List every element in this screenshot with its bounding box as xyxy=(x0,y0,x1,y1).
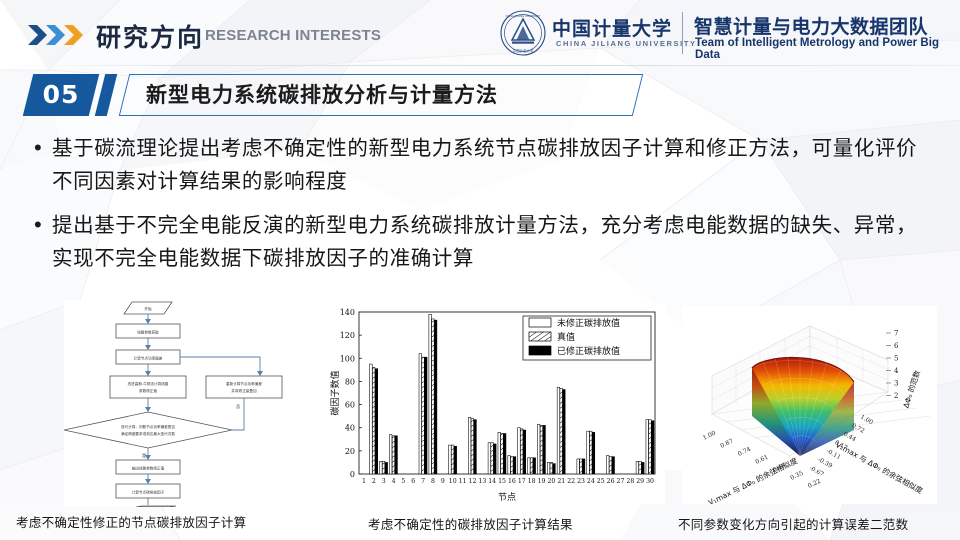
section-title-bar: 05 新型电力系统碳排放分析与计量方法 xyxy=(28,74,638,116)
bar xyxy=(528,458,531,474)
bar xyxy=(639,461,642,474)
bar xyxy=(587,431,590,474)
bar xyxy=(503,434,506,475)
bar xyxy=(501,434,504,475)
bar xyxy=(488,443,491,474)
bar xyxy=(642,462,645,474)
bar xyxy=(511,457,514,474)
bar xyxy=(580,459,583,474)
bullet-text: 提出基于不完全电能反演的新型电力系统碳排放计量方法，充分考虑电能数据的缺失、异常… xyxy=(52,209,932,275)
bar xyxy=(646,420,649,474)
header-divider xyxy=(0,65,960,66)
x-tick-label: 27 xyxy=(617,478,625,485)
bar xyxy=(451,445,454,474)
bar xyxy=(508,455,511,474)
bullet-item: • 基于碳流理论提出考虑不确定性的新型电力系统节点碳排放因子计算和修正方法，可量… xyxy=(30,132,940,198)
bar xyxy=(432,319,435,474)
bar xyxy=(533,458,536,474)
bar xyxy=(577,459,580,474)
bar xyxy=(395,436,398,474)
bullet-marker: • xyxy=(30,132,52,198)
bar xyxy=(520,429,523,474)
bullet-item: • 提出基于不完全电能反演的新型电力系统碳排放计量方法，充分考虑电能数据的缺失、… xyxy=(30,209,940,275)
header-title-en: RESEARCH INTERESTS xyxy=(205,27,381,44)
x-tick-label: 4 xyxy=(392,478,396,485)
svg-text:碳因子数值: 碳因子数值 xyxy=(329,370,341,415)
x-tick-label: 11 xyxy=(459,478,467,485)
z-tick-label: 3 xyxy=(894,380,898,388)
y-tick-label: 100 xyxy=(340,354,355,363)
svg-text:参数修正值: 参数修正值 xyxy=(139,388,157,393)
bar xyxy=(523,430,526,474)
bar xyxy=(636,461,639,474)
figure-caption: 不同参数变化方向引起的计算误差二范数 xyxy=(678,514,908,533)
x-tick-label: 29 xyxy=(636,478,644,485)
bar xyxy=(454,446,457,474)
x-tick-label: 12 xyxy=(469,478,477,485)
bullet-list: • 基于碳流理论提出考虑不确定性的新型电力系统节点碳排放因子计算和修正方法，可量… xyxy=(30,132,940,286)
y-tick-label: 120 xyxy=(340,331,355,340)
bar xyxy=(494,444,497,474)
z-tick-label: 5 xyxy=(894,355,898,363)
bar xyxy=(606,455,609,474)
z-tick-label: 4 xyxy=(894,367,899,375)
x-tick-label: 18 xyxy=(528,478,536,485)
bar xyxy=(468,417,471,474)
svg-text:并将修正量叠加: 并将修正量叠加 xyxy=(231,388,257,393)
legend-label: 未修正碳排放值 xyxy=(557,317,620,329)
figure-caption: 考虑不确定性的碳排放因子计算结果 xyxy=(368,514,573,533)
legend-label: 真值 xyxy=(557,331,575,343)
bar xyxy=(382,461,385,474)
x-tick-label: 5 xyxy=(401,478,405,485)
figure-caption: 考虑不确定性修正的节点碳排放因子计算 xyxy=(16,512,246,531)
bar xyxy=(543,425,546,474)
section-number-text: 05 xyxy=(28,74,94,116)
x-tick-label: 24 xyxy=(587,478,595,485)
figure-row: 开始 线路参数获取 计算节点功率偏差 改进高斯-牛顿法计算线路 参数修正值 重新… xyxy=(0,298,960,540)
legend-label: 已修正碳排放值 xyxy=(557,345,620,357)
y-tick-label: 80 xyxy=(345,377,355,386)
svg-text:满足精度要求或到达最大迭代次数: 满足精度要求或到达最大迭代次数 xyxy=(121,431,175,436)
bar xyxy=(389,435,392,474)
z-tick-label: 2 xyxy=(894,392,898,400)
svg-text:计算节点功率偏差: 计算节点功率偏差 xyxy=(134,356,163,361)
x-tick-label: 26 xyxy=(607,478,615,485)
svg-text:节点: 节点 xyxy=(498,492,516,503)
svg-text:重新计算节点功率偏差: 重新计算节点功率偏差 xyxy=(226,381,262,386)
x-tick-label: 23 xyxy=(577,478,585,485)
bar xyxy=(592,432,595,474)
legend-swatch xyxy=(529,332,551,341)
x-tick-label: 7 xyxy=(421,478,425,485)
bar xyxy=(609,457,612,474)
bullet-text: 基于碳流理论提出考虑不确定性的新型电力系统节点碳排放因子计算和修正方法，可量化评… xyxy=(52,132,932,198)
slide-header: 研究方向 RESEARCH INTERESTS xyxy=(0,0,960,66)
x-tick-label: 14 xyxy=(488,478,496,485)
svg-text:改进高斯-牛顿法计算线路: 改进高斯-牛顿法计算线路 xyxy=(128,381,169,386)
bar xyxy=(422,357,425,474)
x-tick-label: 1 xyxy=(362,478,366,485)
bar xyxy=(392,436,395,474)
bar xyxy=(563,390,566,474)
bar xyxy=(385,462,388,474)
legend-swatch xyxy=(529,346,551,355)
x-tick-label: 22 xyxy=(567,478,575,485)
bar xyxy=(375,369,378,474)
bar xyxy=(518,428,521,474)
bar xyxy=(434,320,437,474)
svg-text:迭代计算，判断节点功率偏差是否: 迭代计算，判断节点功率偏差是否 xyxy=(121,424,175,429)
bar xyxy=(537,424,540,474)
x-tick-label: 2 xyxy=(372,478,376,485)
svg-text:线路参数获取: 线路参数获取 xyxy=(137,330,159,335)
x-tick-label: 15 xyxy=(498,478,506,485)
figure-bar-chart: 020406080100120140 123456789101112131415… xyxy=(325,304,665,504)
bar xyxy=(582,459,585,474)
bar xyxy=(560,388,563,474)
bar xyxy=(550,462,553,474)
x-tick-label: 19 xyxy=(538,478,546,485)
z-tick-label: 6 xyxy=(894,342,899,350)
bar xyxy=(553,464,556,474)
bar xyxy=(612,457,615,474)
bar xyxy=(471,418,474,474)
svg-text:输出线路参数修正值: 输出线路参数修正值 xyxy=(132,466,165,471)
bar xyxy=(370,364,373,474)
bar xyxy=(425,357,428,474)
x-tick-label: 6 xyxy=(411,478,415,485)
y-tick-label: 0 xyxy=(350,470,355,479)
bullet-marker: • xyxy=(30,209,52,275)
y-tick-label: 20 xyxy=(345,447,355,456)
x-tick-label: 21 xyxy=(557,478,565,485)
bar xyxy=(498,432,501,474)
bar xyxy=(380,461,383,474)
bar xyxy=(513,457,516,474)
z-tick-label: 7 xyxy=(894,330,898,338)
legend-swatch xyxy=(529,318,551,327)
section-number-badge: 05 xyxy=(23,74,99,116)
bar xyxy=(540,425,543,474)
x-tick-label: 10 xyxy=(449,478,457,485)
x-tick-label: 25 xyxy=(597,478,605,485)
bar xyxy=(429,314,432,474)
figure-flowchart: 开始 线路参数获取 计算节点功率偏差 改进高斯-牛顿法计算线路 参数修正值 重新… xyxy=(64,300,312,507)
bar xyxy=(649,420,652,474)
x-tick-label: 3 xyxy=(382,478,386,485)
figure-surface-plot: 234567 1.000.870.740.610.480.350.22 1.00… xyxy=(682,306,937,504)
chevron-triple-icon xyxy=(28,24,90,46)
bar xyxy=(474,420,477,474)
bar xyxy=(449,445,452,474)
bar xyxy=(651,421,654,474)
x-tick-label: 17 xyxy=(518,478,526,485)
x-tick-label: 16 xyxy=(508,478,516,485)
bar xyxy=(530,458,533,474)
bar xyxy=(557,387,560,474)
y-tick-label: 40 xyxy=(345,424,355,433)
x-tick-label: 8 xyxy=(431,478,435,485)
svg-text:计算节点碳排放因子: 计算节点碳排放因子 xyxy=(132,490,165,495)
section-slash-accent xyxy=(95,74,117,116)
bar xyxy=(589,431,592,474)
y-tick-label: 140 xyxy=(340,308,355,317)
x-tick-label: 20 xyxy=(547,478,555,485)
y-tick-label: 60 xyxy=(345,401,355,410)
bar xyxy=(419,354,422,474)
section-title-text: 新型电力系统碳排放分析与计量方法 xyxy=(146,74,498,116)
x-tick-label: 13 xyxy=(478,478,486,485)
svg-text:开始: 开始 xyxy=(144,306,152,311)
x-tick-label: 9 xyxy=(441,478,445,485)
header-title-cn: 研究方向 xyxy=(96,18,204,54)
bar xyxy=(372,368,375,474)
bar xyxy=(547,462,550,474)
x-tick-label: 30 xyxy=(646,478,654,485)
x-tick-label: 28 xyxy=(626,478,634,485)
bar xyxy=(491,443,494,474)
